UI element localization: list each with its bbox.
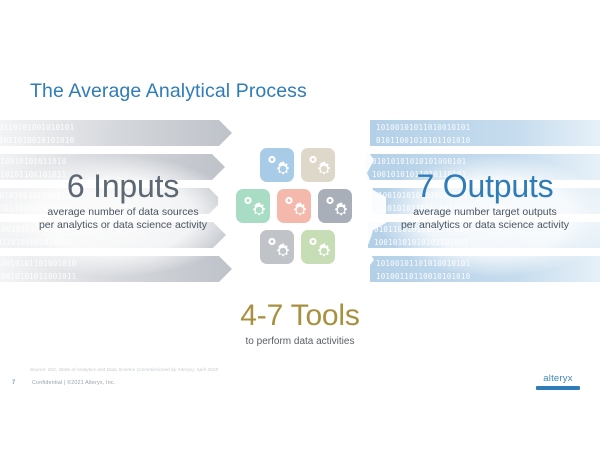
chevron-left: 11010010101101001010 1011001010101100101…	[0, 256, 232, 282]
page-title: The Average Analytical Process	[30, 80, 307, 103]
binary-text: 01010110101001010101	[0, 236, 212, 248]
tool-tile-row	[260, 230, 335, 264]
stat-inputs: 6 Inputs average number of data sources …	[12, 170, 234, 232]
stat-outputs-subtitle: average number target outputs per analyt…	[378, 206, 592, 232]
stat-inputs-subtitle: average number of data sources per analy…	[12, 206, 234, 232]
tool-tile-row	[236, 189, 352, 223]
binary-text: 01010101010101000101	[372, 155, 600, 168]
chevron-right: 10100101011010010101 0101100101010110101…	[370, 120, 600, 146]
source-note: Source: IDC, State of Analytics and Data…	[30, 367, 218, 372]
alteryx-logo-bar	[536, 386, 580, 390]
binary-text: 10100101011010010101	[376, 121, 600, 134]
binary-text: 11010010101101001010	[0, 257, 218, 270]
tool-tile-blue	[260, 148, 294, 182]
chevron-row-right: 10100101011010010101 0101100101010110101…	[370, 120, 600, 146]
binary-text: 01101011010010101010	[0, 134, 218, 146]
binary-text: 10100101101010010101	[376, 257, 600, 270]
tool-tile-green-pale	[301, 230, 335, 264]
chevron-row-left: 10010110101001010101 0110101101001010101…	[0, 120, 232, 146]
chevron-left: 10010110101001010101 0110101101001010101…	[0, 120, 232, 146]
chevron-row-left: 11010010101101001010 1011001010101100101…	[0, 256, 232, 282]
binary-text: 10010101010101101001	[374, 236, 600, 248]
binary-text: 10110010101011001011	[0, 270, 218, 282]
binary-text: 01011001010101101010	[376, 134, 600, 146]
stat-outputs-subtitle-line2: per analytics or data science activity	[378, 219, 592, 232]
stat-tools-subtitle: to perform data activities	[190, 335, 410, 348]
stat-inputs-subtitle-line2: per analytics or data science activity	[12, 219, 234, 232]
confidentiality-notice: Confidential | ©2021 Alteryx, Inc.	[32, 380, 115, 386]
stat-tools-headline: 4-7 Tools	[190, 300, 410, 332]
tool-tile-salmon	[277, 189, 311, 223]
binary-text: 10010110101001010101	[0, 121, 218, 134]
tool-tile-tan	[301, 148, 335, 182]
slide-footer: 7 Confidential | ©2021 Alteryx, Inc.	[12, 379, 588, 395]
alteryx-logo-wordmark: alteryx	[536, 373, 580, 384]
tool-tile-row	[260, 148, 335, 182]
binary-text: 11001010010101011010	[0, 155, 211, 168]
stat-tools: 4-7 Tools to perform data activities	[190, 300, 410, 348]
binary-text: 10100110110010101010	[376, 270, 600, 282]
stat-outputs-subtitle-line1: average number target outputs	[378, 206, 592, 219]
tool-tile-grid	[236, 148, 368, 270]
stat-inputs-subtitle-line1: average number of data sources	[12, 206, 234, 219]
stat-outputs: 7 Outputs average number target outputs …	[378, 170, 592, 232]
stat-inputs-headline: 6 Inputs	[12, 170, 234, 204]
tool-tile-green	[236, 189, 270, 223]
tool-tile-gray	[318, 189, 352, 223]
alteryx-logo: alteryx	[536, 373, 580, 390]
tool-tile-gray-light	[260, 230, 294, 264]
slide-canvas: The Average Analytical Process 100101101…	[0, 0, 600, 463]
chevron-right: 10100101101010010101 1010011011001010101…	[370, 256, 600, 282]
stat-outputs-headline: 7 Outputs	[378, 170, 592, 204]
chevron-row-right: 10100101101010010101 1010011011001010101…	[370, 256, 600, 282]
page-number: 7	[12, 380, 15, 386]
